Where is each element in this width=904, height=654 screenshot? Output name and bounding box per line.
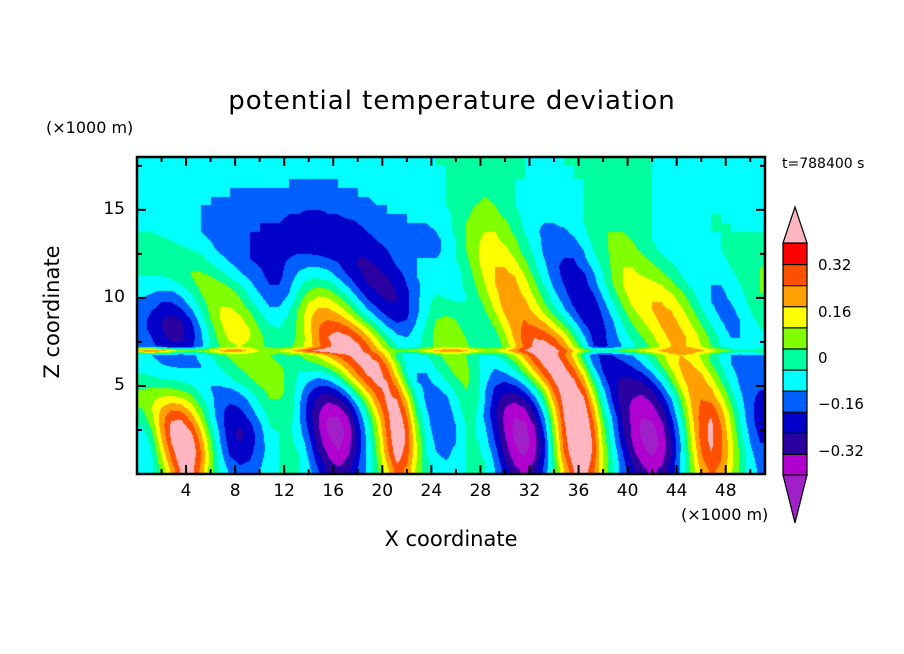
colorbar-tick-label: −0.16 [818, 395, 864, 413]
x-tick-label-12: 12 [264, 481, 304, 501]
colorbar-band [783, 454, 807, 476]
colorbar-band [783, 327, 807, 349]
timestamp-label: t=788400 s [782, 156, 864, 172]
x-tick-label-4: 4 [166, 481, 206, 501]
x-tick-label-16: 16 [313, 481, 353, 501]
colorbar-band [783, 285, 807, 307]
x-tick-label-8: 8 [215, 481, 255, 501]
colorbar-band [783, 412, 807, 434]
y-tick-label-10: 10 [85, 287, 125, 307]
colorbar-band [783, 348, 807, 370]
colorbar-band [783, 243, 807, 265]
x-tick-label-44: 44 [657, 481, 697, 501]
contour-field [137, 157, 765, 474]
colorbar-band [783, 370, 807, 392]
x-axis-title: X coordinate [251, 527, 651, 551]
figure-canvas: potential temperature deviation (×1000 m… [0, 0, 904, 654]
x-axis-unit-label: (×1000 m) [681, 505, 768, 524]
colorbar-tick-label: −0.32 [818, 442, 864, 460]
contour-raster [137, 157, 765, 474]
x-tick-label-32: 32 [510, 481, 550, 501]
colorbar-under-cap [783, 475, 807, 523]
y-tick-label-15: 15 [85, 199, 125, 219]
x-tick-label-36: 36 [559, 481, 599, 501]
x-tick-label-48: 48 [706, 481, 746, 501]
y-axis-title: Z coordinate [40, 232, 64, 392]
colorbar-tick-label: 0.32 [818, 256, 851, 274]
colorbar-tick-label: 0 [818, 349, 828, 367]
colorbar-band [783, 391, 807, 413]
x-tick-label-24: 24 [411, 481, 451, 501]
colorbar [783, 207, 807, 523]
colorbar-over-cap [783, 207, 807, 243]
colorbar-band [783, 306, 807, 328]
x-tick-label-20: 20 [362, 481, 402, 501]
y-tick-label-5: 5 [85, 375, 125, 395]
x-tick-label-40: 40 [608, 481, 648, 501]
x-tick-label-28: 28 [460, 481, 500, 501]
z-axis-unit-label: (×1000 m) [46, 118, 133, 137]
colorbar-band [783, 433, 807, 455]
colorbar-tick-label: 0.16 [818, 303, 851, 321]
page-title: potential temperature deviation [0, 86, 904, 116]
colorbar-band [783, 264, 807, 286]
